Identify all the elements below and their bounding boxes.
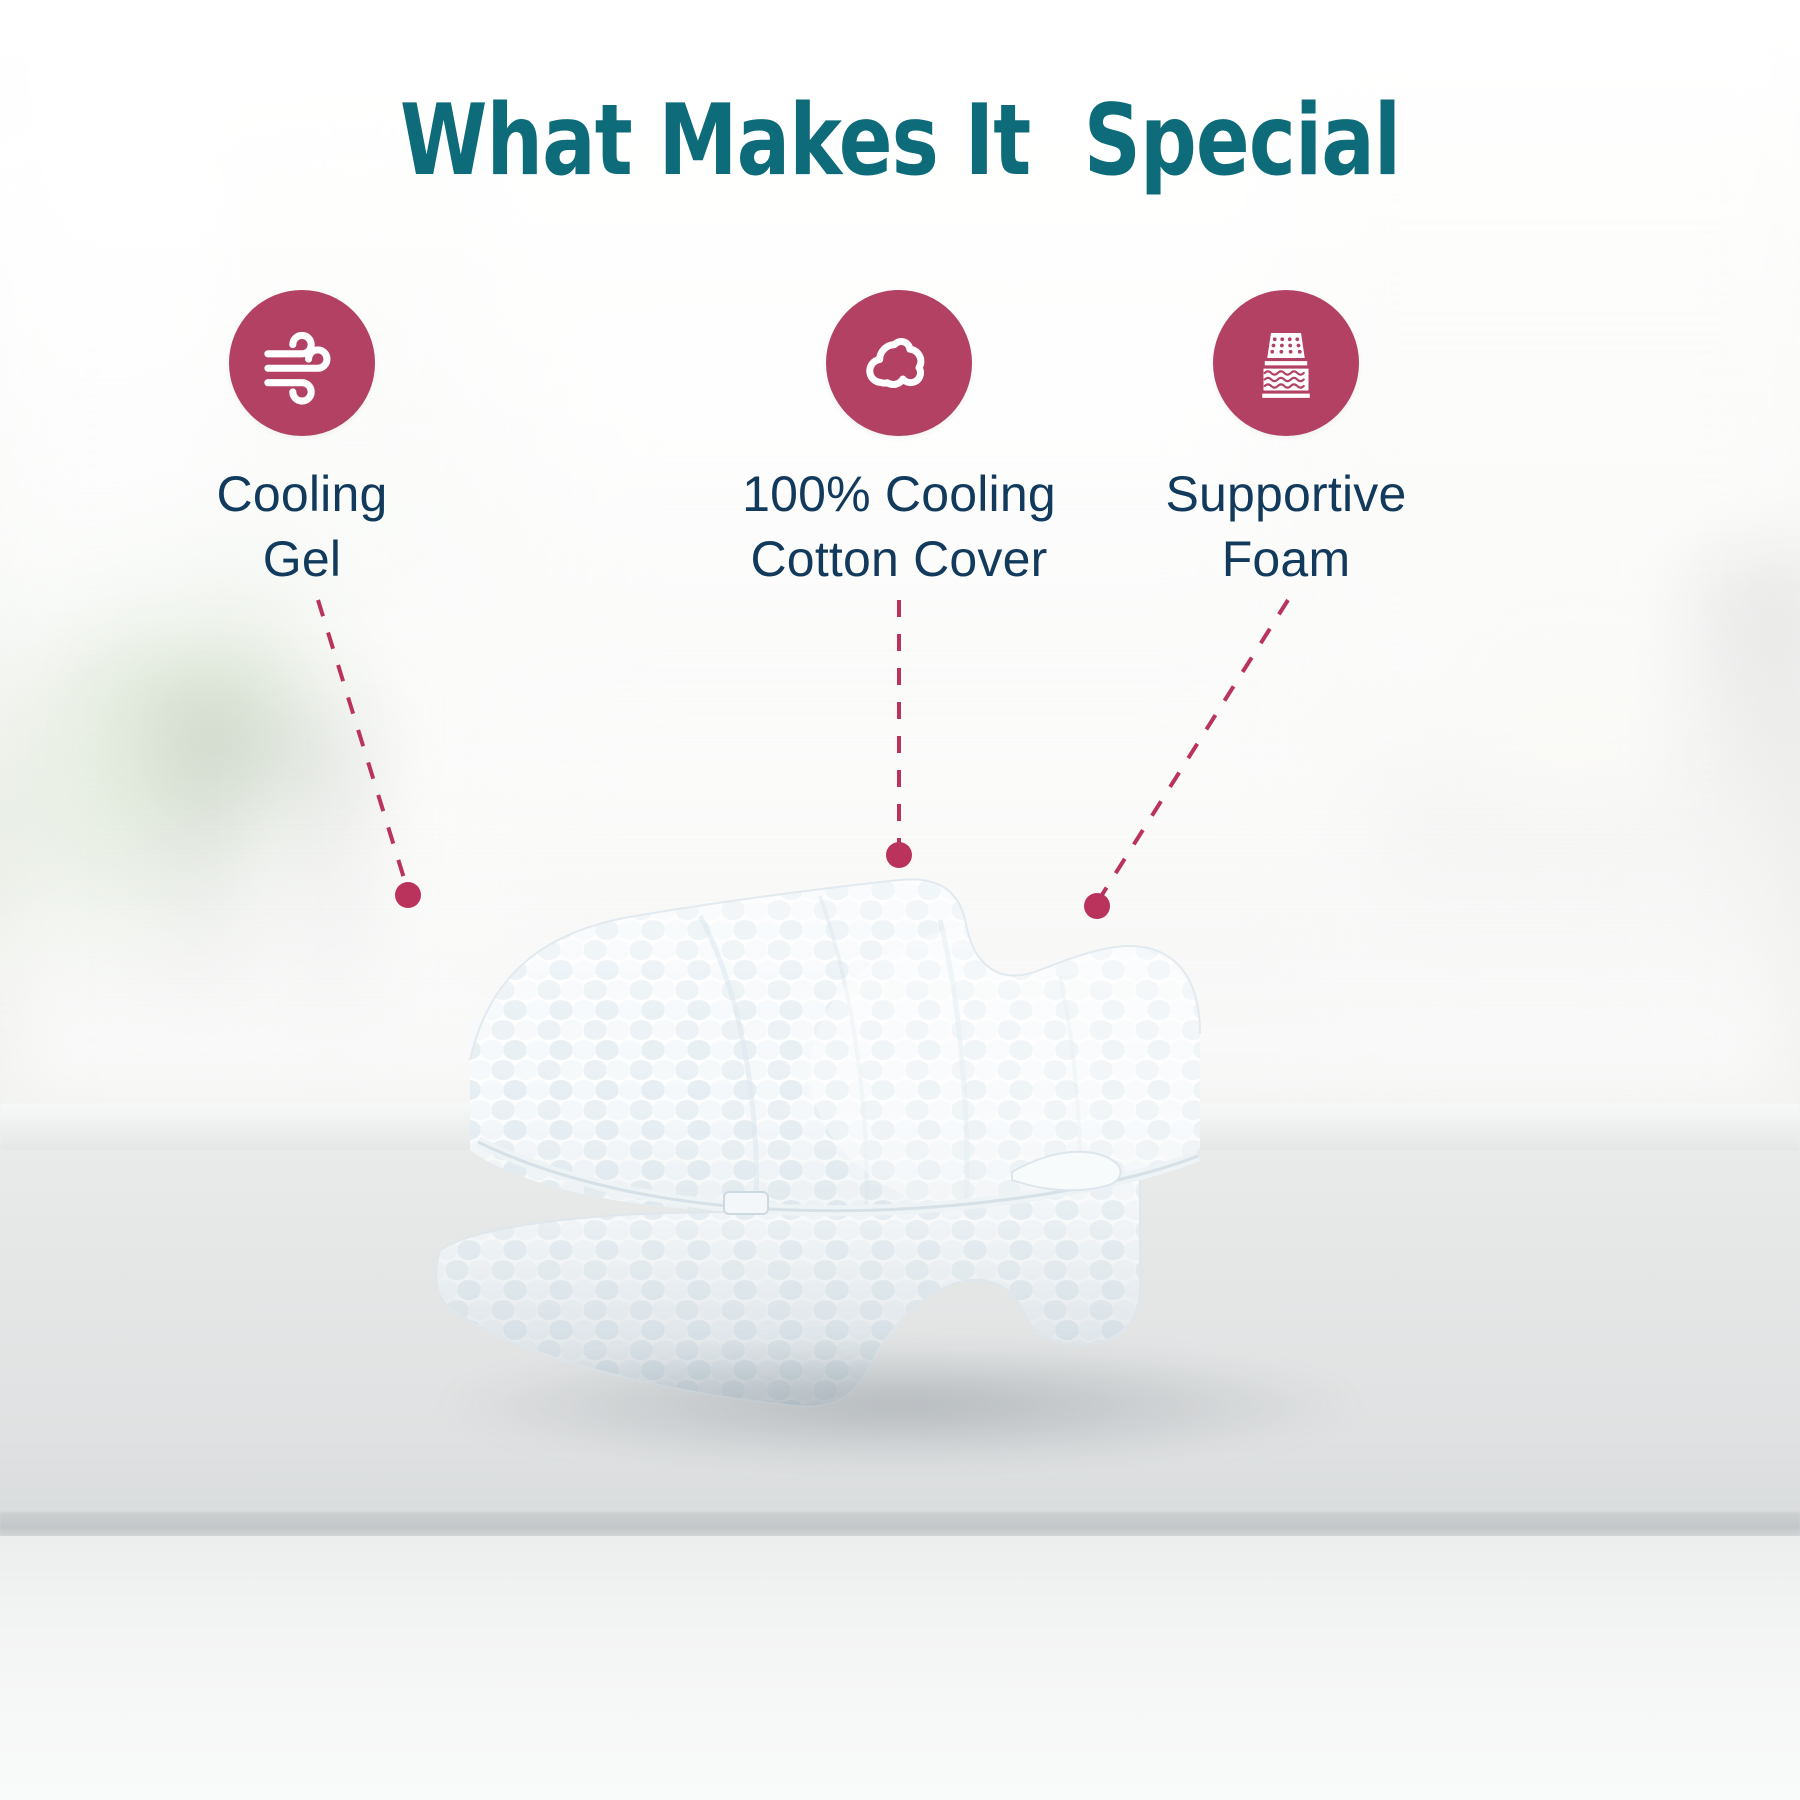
feature-cooling-gel[interactable]: Cooling Gel: [112, 290, 492, 592]
feature-cotton-cover[interactable]: 100% Cooling Cotton Cover: [709, 290, 1089, 592]
mattress-layers-icon: [1246, 323, 1326, 403]
feature-label-line-2: Foam: [1096, 527, 1476, 592]
pillow-drop-shadow: [420, 1340, 1380, 1470]
feature-label-line-1: 100% Cooling: [709, 462, 1089, 527]
page-title: What Makes It Special: [90, 84, 1710, 198]
feature-icon-badge-cooling-gel: [229, 290, 375, 436]
feature-label-line-2: Cotton Cover: [709, 527, 1089, 592]
table-edge: [0, 1512, 1800, 1538]
feature-label-supportive-foam: Supportive Foam: [1096, 462, 1476, 592]
feature-label-cooling-gel: Cooling Gel: [112, 462, 492, 592]
infographic-canvas: What Makes It Special Co: [0, 0, 1800, 1800]
table-front-panel: [0, 1536, 1800, 1800]
cloud-icon: [856, 320, 942, 406]
wind-icon: [260, 321, 344, 405]
feature-label-line-1: Cooling: [112, 462, 492, 527]
pillow-upper-cushion: [400, 860, 1400, 1260]
product-image-knee-pillow: [400, 820, 1400, 1460]
feature-label-cotton-cover: 100% Cooling Cotton Cover: [709, 462, 1089, 592]
feature-label-line-2: Gel: [112, 527, 492, 592]
feature-icon-badge-supportive-foam: [1213, 290, 1359, 436]
feature-label-line-1: Supportive: [1096, 462, 1476, 527]
feature-supportive-foam[interactable]: Supportive Foam: [1096, 290, 1476, 592]
feature-icon-badge-cotton-cover: [826, 290, 972, 436]
